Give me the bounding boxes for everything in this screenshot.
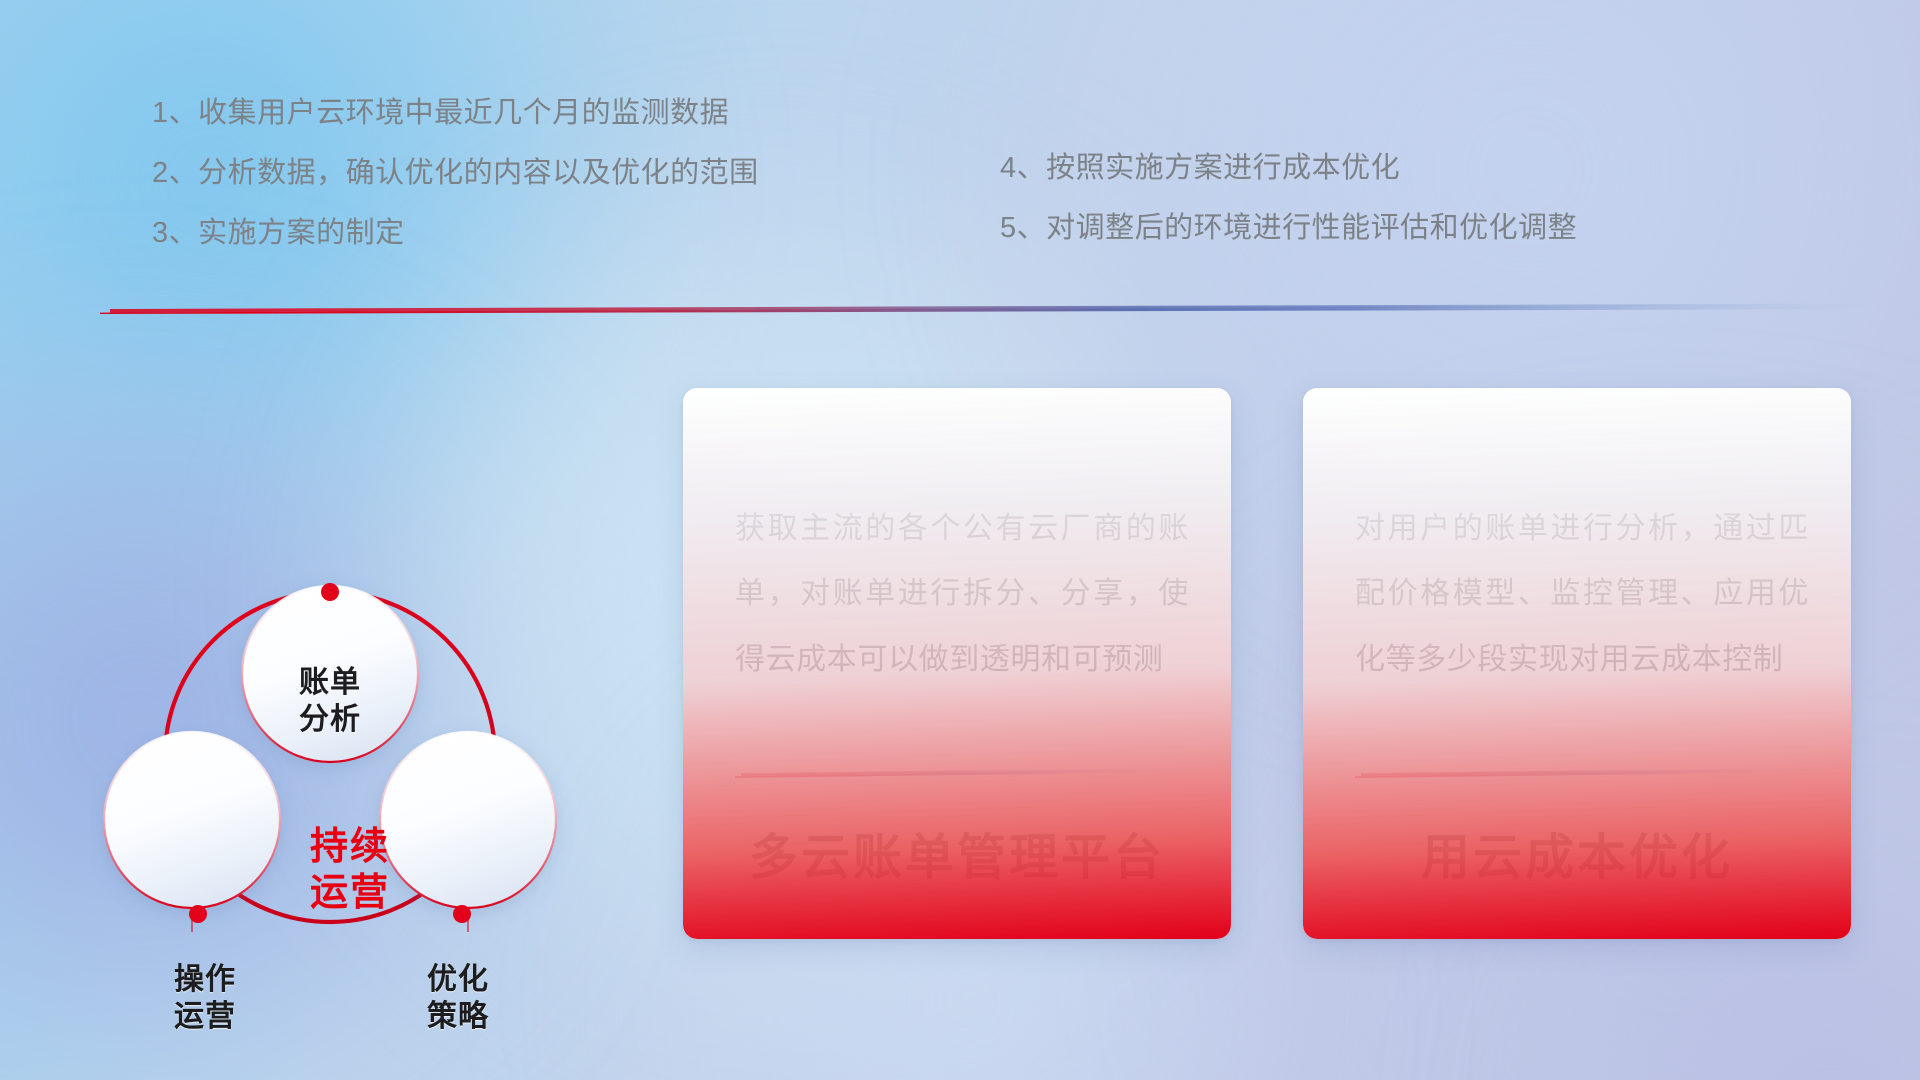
card-2-accent-rule <box>1355 765 1809 777</box>
step-item-5: 5、对调整后的环境进行性能评估和优化调整 <box>1000 214 1577 243</box>
step-item-4: 4、按照实施方案进行成本优化 <box>1000 154 1577 183</box>
venn-center-line2: 运营 <box>250 871 450 917</box>
venn-label-operations: 操作 运营 <box>105 962 305 1035</box>
step-item-1: 1、收集用户云环境中最近几个月的监测数据 <box>152 99 759 128</box>
card-1-body-text: 获取主流的各个公有云厂商的账单，对账单进行拆分、分享，使得云成本可以做到透明和可… <box>735 496 1189 692</box>
step-item-3: 3、实施方案的制定 <box>152 219 759 248</box>
steps-left-column: 1、收集用户云环境中最近几个月的监测数据 2、分析数据，确认优化的内容以及优化的… <box>152 99 759 279</box>
card-2-rule-shape <box>1355 766 1809 778</box>
venn-label-left-line2: 运营 <box>105 999 305 1036</box>
venn-node-dot-left <box>189 905 207 923</box>
card-1-accent-rule <box>735 765 1189 777</box>
venn-center-label: 持续 运营 <box>250 825 450 916</box>
venn-center-line1: 持续 <box>250 825 450 871</box>
venn-label-optimization-strategy: 优化 策略 <box>358 962 558 1035</box>
venn-node-dot-right <box>453 905 471 923</box>
card-2-body-text: 对用户的账单进行分析，通过匹配价格模型、监控管理、应用优化等多少段实现对用云成本… <box>1355 496 1809 692</box>
slide-canvas: 1、收集用户云环境中最近几个月的监测数据 2、分析数据，确认优化的内容以及优化的… <box>0 0 1920 1080</box>
card-1-title: 多云账单管理平台 <box>683 818 1231 889</box>
divider-shape <box>100 300 1896 314</box>
venn-label-bill-analysis: 账单 分析 <box>230 665 430 738</box>
section-divider <box>100 300 1896 314</box>
feature-card-multicloud-billing[interactable]: 获取主流的各个公有云厂商的账单，对账单进行拆分、分享，使得云成本可以做到透明和可… <box>683 388 1231 939</box>
card-2-title: 用云成本优化 <box>1303 818 1851 889</box>
venn-label-top-line2: 分析 <box>230 702 430 739</box>
step-item-2: 2、分析数据，确认优化的内容以及优化的范围 <box>152 159 759 188</box>
card-1-rule-shape <box>735 766 1189 778</box>
steps-right-column: 4、按照实施方案进行成本优化 5、对调整后的环境进行性能评估和优化调整 <box>1000 154 1577 274</box>
venn-label-right-line2: 策略 <box>358 999 558 1036</box>
venn-node-dot-top <box>321 583 339 601</box>
feature-card-cost-optimization[interactable]: 对用户的账单进行分析，通过匹配价格模型、监控管理、应用优化等多少段实现对用云成本… <box>1303 388 1851 939</box>
continuous-operations-diagram: 账单 分析 操作 运营 优化 策略 持续 运营 <box>90 340 650 970</box>
venn-label-right-line1: 优化 <box>358 962 558 999</box>
venn-label-left-line1: 操作 <box>105 962 305 999</box>
venn-label-top-line1: 账单 <box>230 665 430 702</box>
